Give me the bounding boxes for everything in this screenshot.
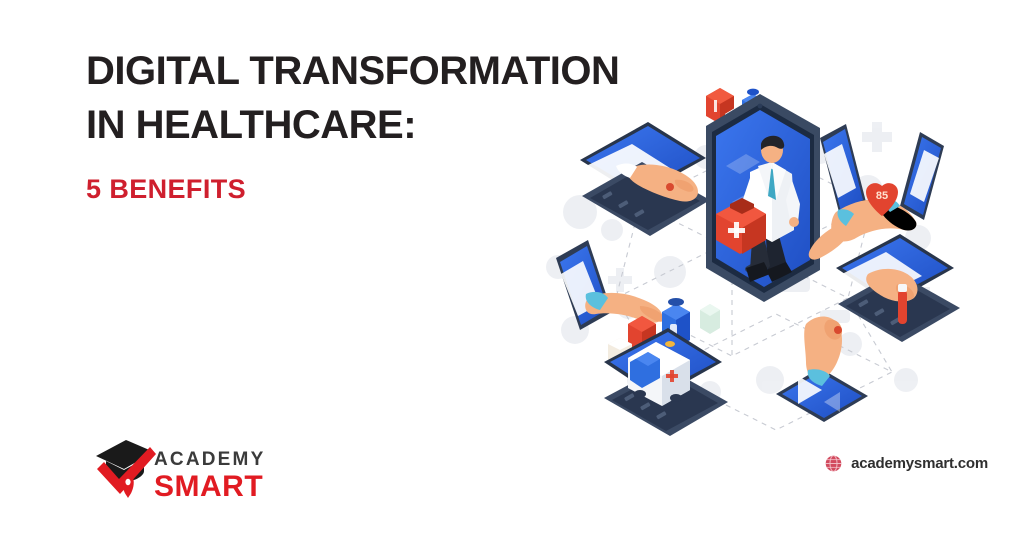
logo-word-smart: SMART	[154, 470, 263, 503]
globe-icon	[825, 455, 842, 472]
tablet-hand-pinch	[776, 317, 868, 422]
heart-rate-value: 85	[876, 190, 888, 202]
phone-doctor	[706, 94, 820, 302]
logo-word-academy: ACADEMY	[154, 449, 265, 470]
banner-root: DIGITAL TRANSFORMATION IN HEALTHCARE: 5 …	[0, 0, 1024, 546]
website-url: academysmart.com	[851, 455, 988, 472]
laptop-test-tube	[836, 234, 960, 342]
pinch-hand-icon	[804, 317, 842, 386]
laptop-hand-typing	[580, 122, 710, 236]
academy-smart-logo[interactable]: ACADEMY SMART	[92, 432, 272, 512]
website-link[interactable]: academysmart.com	[825, 455, 988, 472]
healthcare-illustration: 85	[520, 62, 990, 452]
